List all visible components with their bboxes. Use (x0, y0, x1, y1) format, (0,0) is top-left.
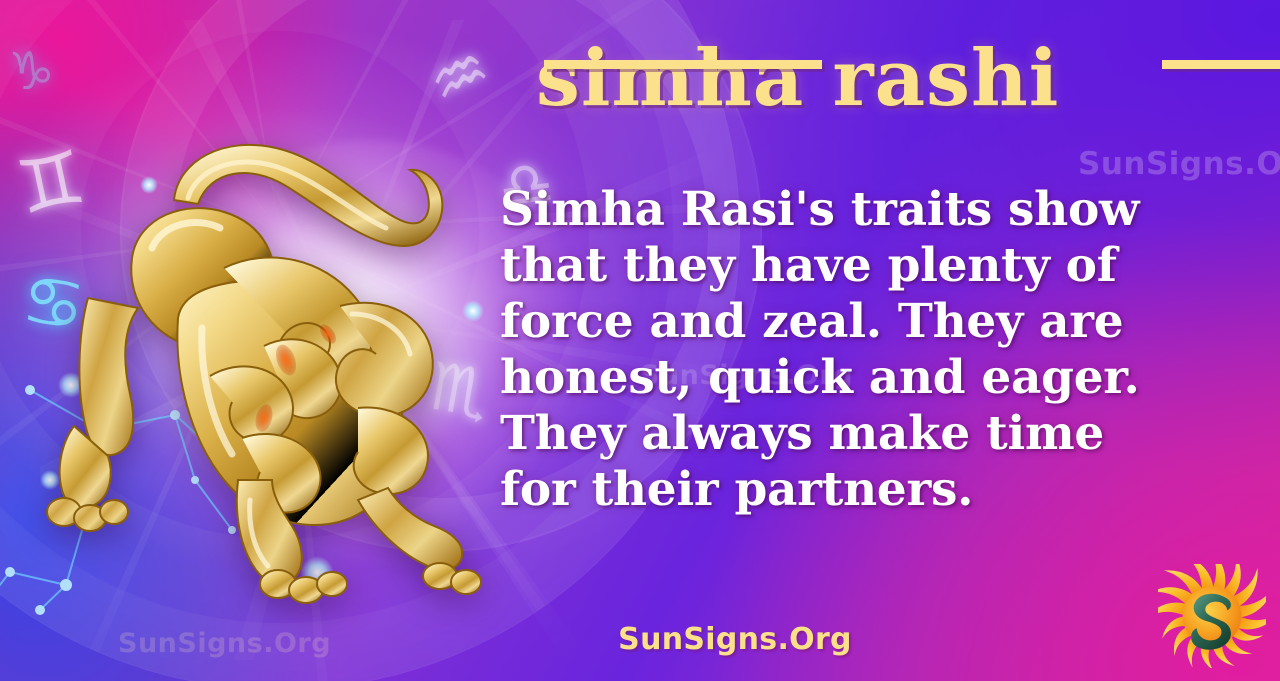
watermark-top-right: SunSigns.Org (1078, 146, 1280, 182)
capricorn-glyph: ♑ (8, 42, 55, 102)
description-line: that they have plenty of (500, 238, 1248, 294)
description-line: honest, quick and eager. (500, 350, 1248, 406)
title-space (804, 33, 832, 124)
description-line: They always make time (500, 406, 1248, 462)
description-line: for their partners. (500, 462, 1248, 518)
sunsigns-sun-logo (1158, 564, 1266, 668)
description-line: Simha Rasi's traits show (500, 182, 1248, 238)
golden-leo-lion-statue (28, 108, 488, 608)
title-word-rashi-text: rashi (832, 33, 1059, 124)
title-word-simha: simha (536, 40, 804, 118)
page-title: simha rashi (536, 40, 1216, 118)
footer-brand: SunSigns.Org (0, 622, 1280, 657)
footer-brand-text: SunSigns.Org (618, 622, 852, 657)
title-word-rashi: rashi (832, 40, 1059, 118)
description-line: force and zeal. They are (500, 294, 1248, 350)
title-word-simha-text: simha (536, 33, 804, 124)
description-text: Simha Rasi's traits show that they have … (500, 182, 1248, 518)
zodiac-banner: ♊ ♋ ♒ ♎ ♏ ♑ (0, 0, 1280, 681)
